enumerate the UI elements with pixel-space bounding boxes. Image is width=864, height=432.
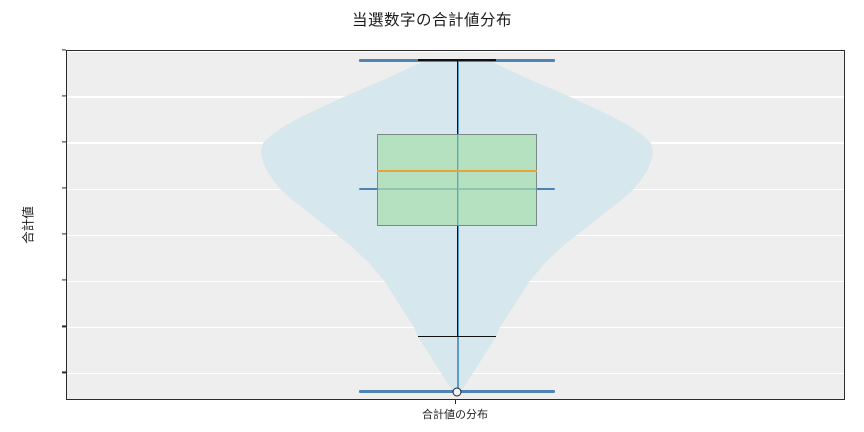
boxplot-box bbox=[377, 134, 537, 226]
x-axis-tick-label: 合計値の分布 bbox=[355, 406, 555, 422]
boxplot-lower-whisker-cap bbox=[418, 336, 496, 338]
boxplot-median-line bbox=[377, 170, 537, 172]
boxplot-outlier-marker bbox=[453, 387, 462, 396]
page-title: 当選数字の合計値分布 bbox=[0, 8, 864, 30]
y-axis-label: 合計値 bbox=[17, 206, 36, 244]
violin-box-plot-figure: 当選数字の合計値分布 合計値 5.07.510.012.515.017.520.… bbox=[0, 0, 864, 432]
boxplot-upper-whisker-cap bbox=[418, 59, 496, 61]
x-axis-tick-mark bbox=[455, 400, 456, 404]
plot-area bbox=[66, 50, 845, 400]
